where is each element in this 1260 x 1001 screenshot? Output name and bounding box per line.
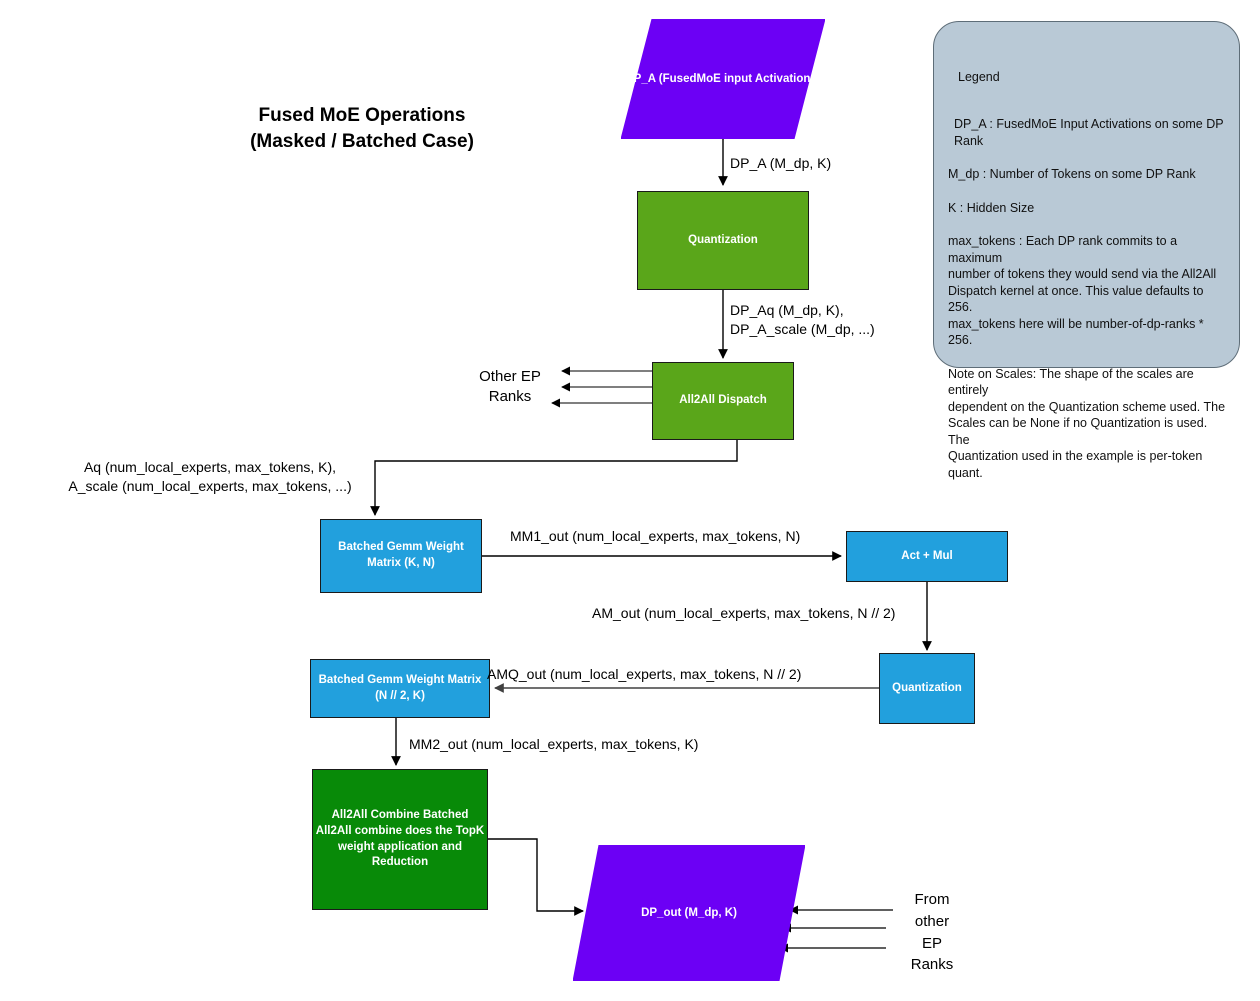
node-batched-gemm-2[interactable]: Batched Gemm Weight Matrix (N // 2, K) [310, 659, 490, 718]
node-quantization-2-label: Quantization [892, 681, 962, 697]
label-from-other-ep-ranks: From other EP Ranks [898, 889, 966, 976]
node-act-mul[interactable]: Act + Mul [846, 531, 1008, 582]
node-quantization-2[interactable]: Quantization [879, 653, 975, 724]
legend-item-k: K : Hidden Size [948, 200, 1227, 217]
edge-dispatch-to-other-ep-ranks [552, 371, 652, 403]
edge-label-gemm2-to-combine: MM2_out (num_local_experts, max_tokens, … [409, 735, 769, 754]
node-act-mul-label: Act + Mul [901, 549, 952, 565]
diagram-canvas: Fused MoE Operations (Masked / Batched C… [0, 0, 1260, 1001]
label-other-ep-ranks: Other EP Ranks [466, 367, 554, 406]
node-all2all-combine-label: All2All Combine Batched All2All combine … [313, 808, 487, 870]
node-dp-out[interactable]: DP_out (M_dp, K) [573, 845, 805, 981]
node-batched-gemm-1-label: Batched Gemm Weight Matrix (K, N) [321, 540, 481, 571]
edge-label-gemm1-to-act-mul: MM1_out (num_local_experts, max_tokens, … [510, 527, 830, 546]
node-all2all-dispatch-label: All2All Dispatch [679, 393, 767, 409]
edge-label-dispatch-to-batched-gemm-1: Aq (num_local_experts, max_tokens, K), A… [30, 458, 390, 496]
legend-item-dp-a: DP_A : FusedMoE Input Activations on som… [954, 116, 1227, 149]
diagram-title: Fused MoE Operations (Masked / Batched C… [182, 103, 542, 154]
node-batched-gemm-1[interactable]: Batched Gemm Weight Matrix (K, N) [320, 519, 482, 593]
edge-all2all-combine-to-dp-out [488, 839, 583, 911]
edge-label-quantization-2-to-gemm2: AMQ_out (num_local_experts, max_tokens, … [487, 665, 857, 684]
node-dp-a[interactable]: DP_A (FusedMoE input Activations) [621, 19, 825, 139]
legend-heading: Legend [958, 70, 1227, 84]
node-all2all-combine[interactable]: All2All Combine Batched All2All combine … [312, 769, 488, 910]
node-batched-gemm-2-label: Batched Gemm Weight Matrix (N // 2, K) [311, 673, 489, 704]
edge-dispatch-to-batched-gemm-1 [375, 440, 737, 515]
legend-item-note-on-scales: Note on Scales: The shape of the scales … [948, 366, 1227, 482]
node-all2all-dispatch[interactable]: All2All Dispatch [652, 362, 794, 440]
edge-label-dp-a-to-quantization: DP_A (M_dp, K) [730, 154, 1010, 173]
edge-label-act-mul-to-quantization-2: AM_out (num_local_experts, max_tokens, N… [592, 604, 932, 623]
edge-label-quantization-to-dispatch: DP_Aq (M_dp, K), DP_A_scale (M_dp, ...) [730, 301, 1030, 339]
node-quantization-1-label: Quantization [688, 233, 758, 249]
node-quantization-1[interactable]: Quantization [637, 191, 809, 290]
